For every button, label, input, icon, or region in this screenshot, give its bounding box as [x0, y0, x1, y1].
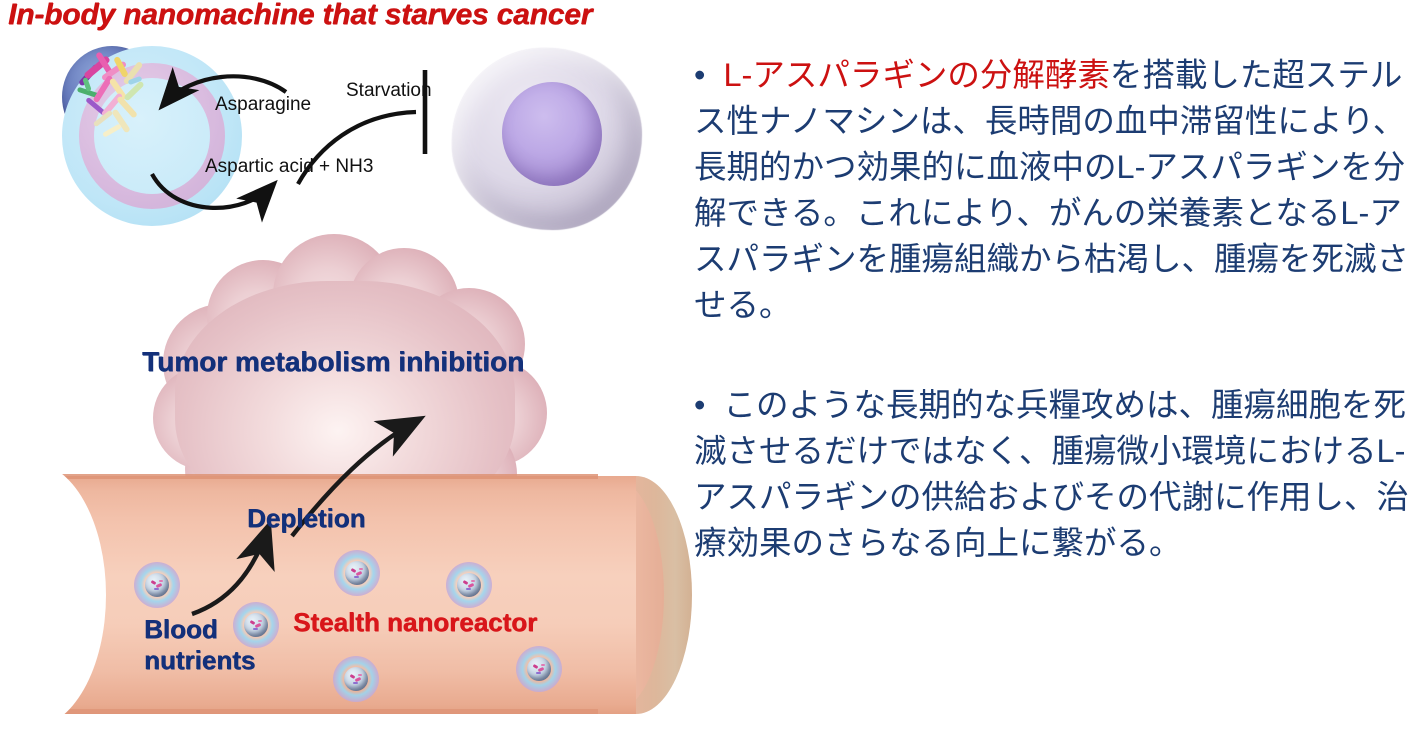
label-stealth-nanoreactor: Stealth nanoreactor: [293, 607, 537, 638]
paragraph-1-body: を搭載した超ステルス性ナノマシンは、長時間の血中滞留性により、長期的かつ効果的に…: [694, 57, 1409, 323]
vessel-bottom-edge: [38, 709, 598, 714]
bullet-marker-1: •: [694, 57, 705, 93]
stealth-nanoreactor-diagram: [62, 46, 242, 226]
bullet-marker-2: •: [694, 387, 705, 423]
nanoreactor-particle: [334, 550, 380, 596]
label-aspartic-acid: Aspartic acid + NH3: [205, 156, 373, 178]
paragraph-2-body: このような長期的な兵糧攻めは、腫瘍細胞を死滅させるだけではなく、腫瘍微小環境にお…: [694, 387, 1409, 561]
slide-canvas: In-body nanomachine that starves cancer: [0, 0, 1427, 742]
nanoreactor-particle: [516, 646, 562, 692]
vessel-top-edge: [38, 474, 598, 479]
label-blood-nutrients-line2: nutrients: [144, 645, 255, 676]
cancer-cell-nucleus: [502, 82, 602, 186]
nanoreactor-particle: [446, 562, 492, 608]
label-tumor-metabolism-inhibition: Tumor metabolism inhibition: [142, 346, 524, 378]
label-blood-nutrients: Blood nutrients: [144, 614, 255, 676]
nanoreactor-particle: [134, 562, 180, 608]
bullet-paragraph-1: • L-アスパラギンの分解酵素を搭載した超ステルス性ナノマシンは、長時間の血中滞…: [694, 52, 1427, 328]
label-asparagine: Asparagine: [215, 94, 311, 116]
paragraph-1-highlight: L-アスパラギンの分解酵素: [723, 57, 1109, 93]
figure-panel: Asparagine Aspartic acid + NH3 Starvatio…: [0, 36, 700, 742]
description-column: • L-アスパラギンの分解酵素を搭載した超ステルス性ナノマシンは、長時間の血中滞…: [694, 52, 1427, 566]
page-title: In-body nanomachine that starves cancer: [8, 0, 592, 32]
label-starvation: Starvation: [346, 80, 432, 102]
label-depletion: Depletion: [247, 503, 365, 534]
bullet-paragraph-2: • このような長期的な兵糧攻めは、腫瘍細胞を死滅させるだけではなく、腫瘍微小環境…: [694, 382, 1427, 566]
label-blood-nutrients-line1: Blood: [144, 614, 255, 645]
nanoreactor-particle: [333, 656, 379, 702]
nano-inner-shell: [94, 78, 210, 194]
